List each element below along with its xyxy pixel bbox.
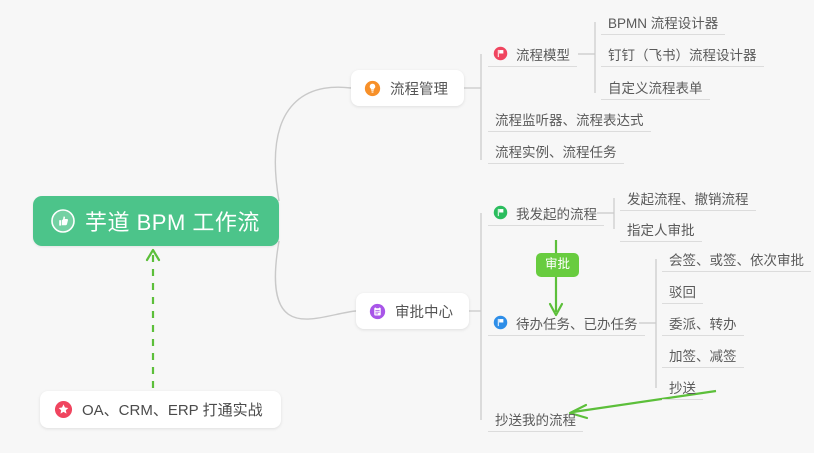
approval-badge: 审批 bbox=[536, 253, 579, 277]
leaf-zhidingren-shenpi-label: 指定人审批 bbox=[627, 219, 695, 239]
root-label: 芋道 BPM 工作流 bbox=[85, 205, 260, 237]
leaf-daiban-renwu-label: 待办任务、已办任务 bbox=[516, 313, 638, 333]
flag-green-icon bbox=[493, 205, 508, 220]
leaf-dingding-designer[interactable]: 钉钉（飞书）流程设计器 bbox=[601, 41, 764, 67]
leaf-jiaqian-jianqian-label: 加签、减签 bbox=[669, 345, 737, 365]
leaf-chaosong-label: 抄送 bbox=[669, 377, 696, 397]
leaf-liucheng-jianting[interactable]: 流程监听器、流程表达式 bbox=[488, 106, 651, 132]
leaf-daiban-renwu[interactable]: 待办任务、已办任务 bbox=[488, 310, 645, 336]
leaf-wo-faqi-label: 我发起的流程 bbox=[516, 203, 597, 223]
star-icon bbox=[54, 400, 73, 419]
mindmap-canvas: 芋道 BPM 工作流 流程管理 流程模型 BPMN 流程设计器 钉钉（飞书 bbox=[0, 0, 814, 453]
leaf-huiqian-huoqian[interactable]: 会签、或签、依次审批 bbox=[662, 246, 811, 272]
leaf-faqi-chexiao[interactable]: 发起流程、撤销流程 bbox=[620, 185, 756, 211]
leaf-jiaqian-jianqian[interactable]: 加签、减签 bbox=[662, 342, 744, 368]
clipboard-icon bbox=[369, 303, 386, 320]
leaf-huiqian-huoqian-label: 会签、或签、依次审批 bbox=[669, 249, 804, 269]
leaf-liucheng-shili[interactable]: 流程实例、流程任务 bbox=[488, 138, 624, 164]
leaf-bohui[interactable]: 驳回 bbox=[662, 278, 703, 304]
leaf-liucheng-shili-label: 流程实例、流程任务 bbox=[495, 141, 617, 161]
dashed-arrow-head bbox=[147, 250, 159, 260]
connector-root-to-shenpi-zhongxin bbox=[275, 241, 356, 319]
leaf-liucheng-jianting-label: 流程监听器、流程表达式 bbox=[495, 109, 644, 129]
leaf-chaosong-wode-label: 抄送我的流程 bbox=[495, 409, 576, 429]
lightbulb-icon bbox=[364, 80, 381, 97]
leaf-liucheng-moxing-label: 流程模型 bbox=[516, 44, 570, 64]
leaf-faqi-chexiao-label: 发起流程、撤销流程 bbox=[627, 188, 749, 208]
leaf-liucheng-moxing[interactable]: 流程模型 bbox=[488, 41, 577, 67]
leaf-bpmn-designer[interactable]: BPMN 流程设计器 bbox=[601, 9, 725, 35]
connector-root-to-liucheng-guanli bbox=[275, 87, 351, 201]
leaf-bohui-label: 驳回 bbox=[669, 281, 696, 301]
thumbs-up-icon bbox=[51, 209, 75, 233]
node-oa-crm-erp[interactable]: OA、CRM、ERP 打通实战 bbox=[40, 391, 281, 428]
flag-blue-icon bbox=[493, 315, 508, 330]
node-shenpi-zhongxin[interactable]: 审批中心 bbox=[356, 293, 469, 329]
leaf-zhidingren-shenpi[interactable]: 指定人审批 bbox=[620, 216, 702, 242]
root-node[interactable]: 芋道 BPM 工作流 bbox=[33, 196, 279, 246]
leaf-weipai-zhuanban-label: 委派、转办 bbox=[669, 313, 737, 333]
leaf-custom-form[interactable]: 自定义流程表单 bbox=[601, 74, 710, 100]
node-liucheng-guanli[interactable]: 流程管理 bbox=[351, 70, 464, 106]
node-liucheng-guanli-label: 流程管理 bbox=[390, 78, 448, 99]
node-shenpi-zhongxin-label: 审批中心 bbox=[395, 301, 453, 322]
leaf-dingding-designer-label: 钉钉（飞书）流程设计器 bbox=[608, 44, 757, 64]
leaf-bpmn-designer-label: BPMN 流程设计器 bbox=[608, 12, 718, 32]
leaf-custom-form-label: 自定义流程表单 bbox=[608, 77, 703, 97]
node-oa-crm-erp-label: OA、CRM、ERP 打通实战 bbox=[82, 399, 263, 420]
flag-red-icon bbox=[493, 46, 508, 61]
leaf-chaosong-wode[interactable]: 抄送我的流程 bbox=[488, 406, 583, 432]
leaf-chaosong[interactable]: 抄送 bbox=[662, 374, 703, 400]
leaf-weipai-zhuanban[interactable]: 委派、转办 bbox=[662, 310, 744, 336]
leaf-wo-faqi[interactable]: 我发起的流程 bbox=[488, 200, 604, 226]
